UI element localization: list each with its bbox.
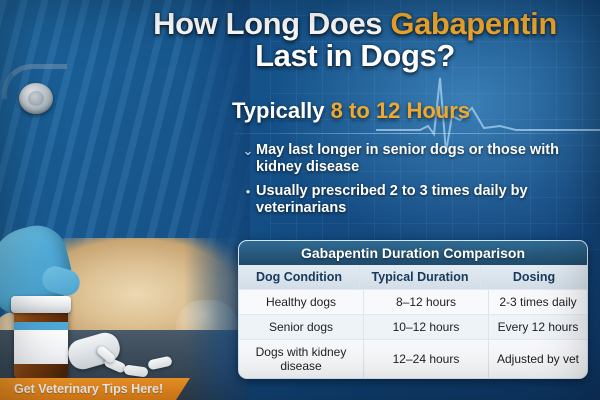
list-item: ⌄ May last longer in senior dogs or thos… [240, 142, 592, 176]
cell-dosing: Adjusted by vet [489, 340, 587, 378]
title-line2: Last in Dogs? [118, 40, 592, 72]
comparison-table: Gabapentin Duration Comparison Dog Condi… [238, 240, 588, 379]
cell-duration: 8–12 hours [364, 290, 489, 314]
cta-banner[interactable]: Get Veterinary Tips Here! [0, 378, 190, 400]
title-highlight-drug: Gabapentin [390, 6, 557, 41]
subtitle-prefix: Typically [232, 98, 331, 123]
cell-dosing: Every 12 hours [489, 315, 587, 339]
table-title: Gabapentin Duration Comparison [239, 241, 587, 265]
cell-duration: 12–24 hours [364, 340, 489, 378]
cell-condition: Dogs with kidney disease [239, 340, 364, 378]
pill-bottle-label [14, 330, 68, 364]
subtitle: Typically 8 to 12 Hours [232, 98, 588, 124]
cell-condition: Senior dogs [239, 315, 364, 339]
bullet-list: ⌄ May last longer in senior dogs or thos… [240, 142, 592, 224]
infographic-poster: How Long Does Gabapentin Last in Dogs? T… [0, 0, 600, 400]
column-header-duration: Typical Duration [360, 265, 481, 289]
bullet-text: Usually prescribed 2 to 3 times daily by… [256, 183, 592, 217]
bullet-text: May last longer in senior dogs or those … [256, 142, 592, 176]
table-row: Dogs with kidney disease 12–24 hours Adj… [239, 339, 587, 378]
subtitle-highlight-duration: 8 to 12 Hours [331, 98, 470, 123]
table-row: Healthy dogs 8–12 hours 2-3 times daily [239, 289, 587, 314]
cell-condition: Healthy dogs [239, 290, 364, 314]
subtitle-divider [234, 133, 586, 134]
table-row: Senior dogs 10–12 hours Every 12 hours [239, 314, 587, 339]
cell-dosing: 2-3 times daily [489, 290, 587, 314]
column-header-dosing: Dosing [481, 265, 587, 289]
dot-bullet-icon: • [240, 183, 256, 200]
page-title: How Long Does Gabapentin Last in Dogs? [118, 8, 592, 72]
cell-duration: 10–12 hours [364, 315, 489, 339]
pill-bottle-cap [11, 296, 71, 313]
table-body: Healthy dogs 8–12 hours 2-3 times daily … [239, 289, 587, 378]
list-item: • Usually prescribed 2 to 3 times daily … [240, 183, 592, 217]
table-header-row: Dog Condition Typical Duration Dosing [239, 265, 587, 289]
chevron-bullet-icon: ⌄ [240, 142, 256, 159]
column-header-condition: Dog Condition [239, 265, 360, 289]
title-line1-prefix: How Long Does [153, 6, 390, 41]
